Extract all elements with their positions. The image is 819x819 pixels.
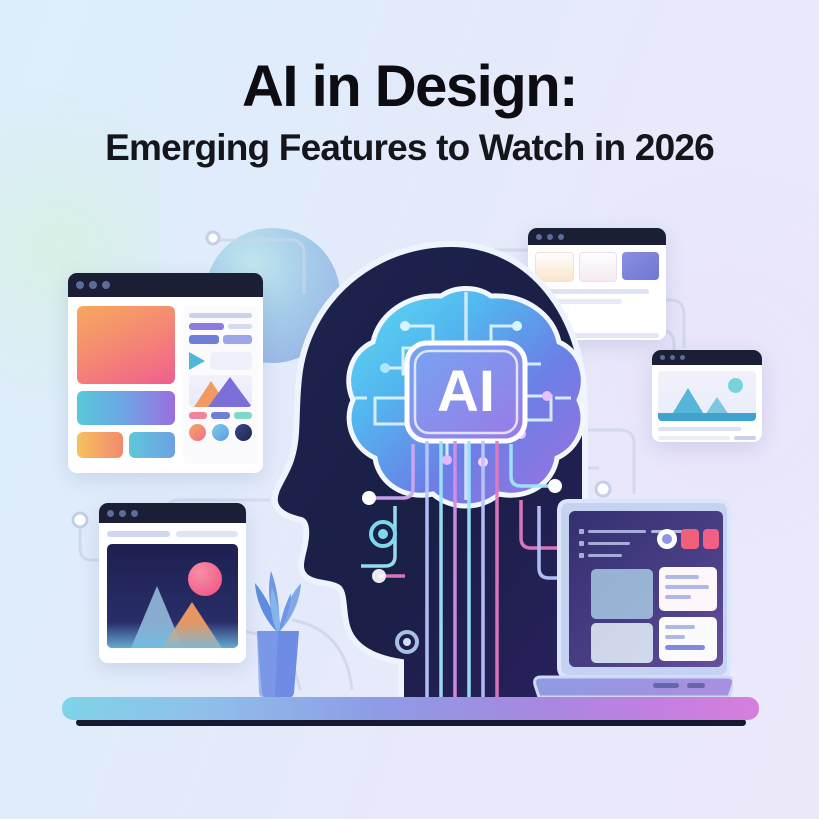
window-dot-minimize[interactable] [119,510,126,517]
sidebar-panel [183,306,258,464]
window-dot-close[interactable] [76,281,84,289]
mountain-chart [189,375,252,407]
play-icon[interactable] [189,352,205,370]
page-title: AI in Design: [0,58,819,116]
gradient-bar-block [77,391,175,425]
text-line [189,313,252,318]
window-titlebar [68,273,263,297]
window-titlebar [652,350,762,365]
window-dot-close[interactable] [107,510,114,517]
text-line [228,324,252,329]
plant-leaves [255,571,301,635]
desk-shadow [76,719,746,726]
text-line [176,531,239,537]
design-tool-window[interactable] [68,273,263,473]
window-dot-minimize[interactable] [670,355,675,360]
sun-circle [188,562,222,596]
desk-surface [62,697,759,720]
window-dot-maximize[interactable] [680,355,685,360]
tag-chip[interactable] [211,412,229,419]
landscape-window[interactable] [652,350,762,442]
window-content [68,297,263,473]
gallery-window[interactable] [99,503,246,663]
swatch-warm [77,432,123,458]
page-subtitle: Emerging Features to Watch in 2026 [0,129,819,166]
window-dot-close[interactable] [660,355,665,360]
window-dot-minimize[interactable] [89,281,97,289]
poster-canvas: AI in Design: Emerging Features to Watch… [0,0,819,819]
card-accent [681,529,699,549]
hero-image-block [77,306,175,384]
landscape-image [658,371,756,421]
tag-chip[interactable] [189,335,219,344]
window-titlebar [99,503,246,523]
tag-chip[interactable] [234,412,252,419]
canvas-panel [591,623,653,663]
window-content [652,365,762,442]
card-tile-accent [622,252,659,280]
text-line [107,531,170,537]
window-dot-maximize[interactable] [102,281,110,289]
tag-chip[interactable] [734,436,756,440]
text-line [658,427,741,431]
artwork-preview [107,544,238,648]
sun-circle [728,378,743,393]
panel-placeholder [210,352,252,370]
color-swatch-orange[interactable] [189,424,206,441]
potted-plant [245,545,311,700]
text-line [658,436,730,440]
laptop-device[interactable] [533,497,733,702]
title-block: AI in Design: Emerging Features to Watch… [0,58,819,166]
window-content [99,523,246,663]
tag-chip[interactable] [189,412,207,419]
color-swatch-navy[interactable] [235,424,252,441]
ai-chip: AI [407,343,525,441]
window-dot-maximize[interactable] [131,510,138,517]
card-accent [703,529,719,549]
swatch-cool [129,432,175,458]
color-swatch-blue[interactable] [212,424,229,441]
ai-chip-label: AI [437,359,495,424]
tag-chip[interactable] [223,335,253,344]
progress-bar [189,323,224,330]
canvas-panel [591,569,653,619]
